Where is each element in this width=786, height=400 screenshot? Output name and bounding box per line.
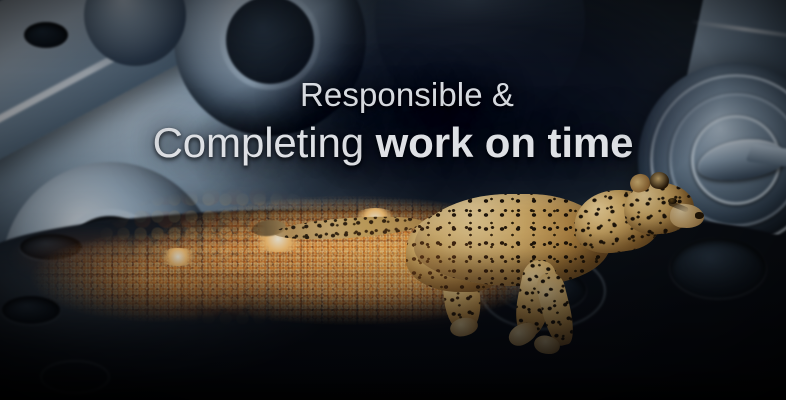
ember-hotspot bbox=[158, 248, 198, 266]
cheetah-eye bbox=[668, 198, 677, 204]
cheetah-figure bbox=[392, 176, 714, 372]
headline-line-1: Responsible & bbox=[0, 78, 786, 111]
hero-banner: Responsible & Completing work on time bbox=[0, 0, 786, 400]
cheetah-nose bbox=[695, 212, 704, 219]
headline-line-2-bold: work on time bbox=[376, 119, 634, 166]
headline-line-2-light: Completing bbox=[153, 119, 376, 166]
headline: Responsible & Completing work on time bbox=[0, 78, 786, 164]
headline-line-2: Completing work on time bbox=[0, 122, 786, 164]
